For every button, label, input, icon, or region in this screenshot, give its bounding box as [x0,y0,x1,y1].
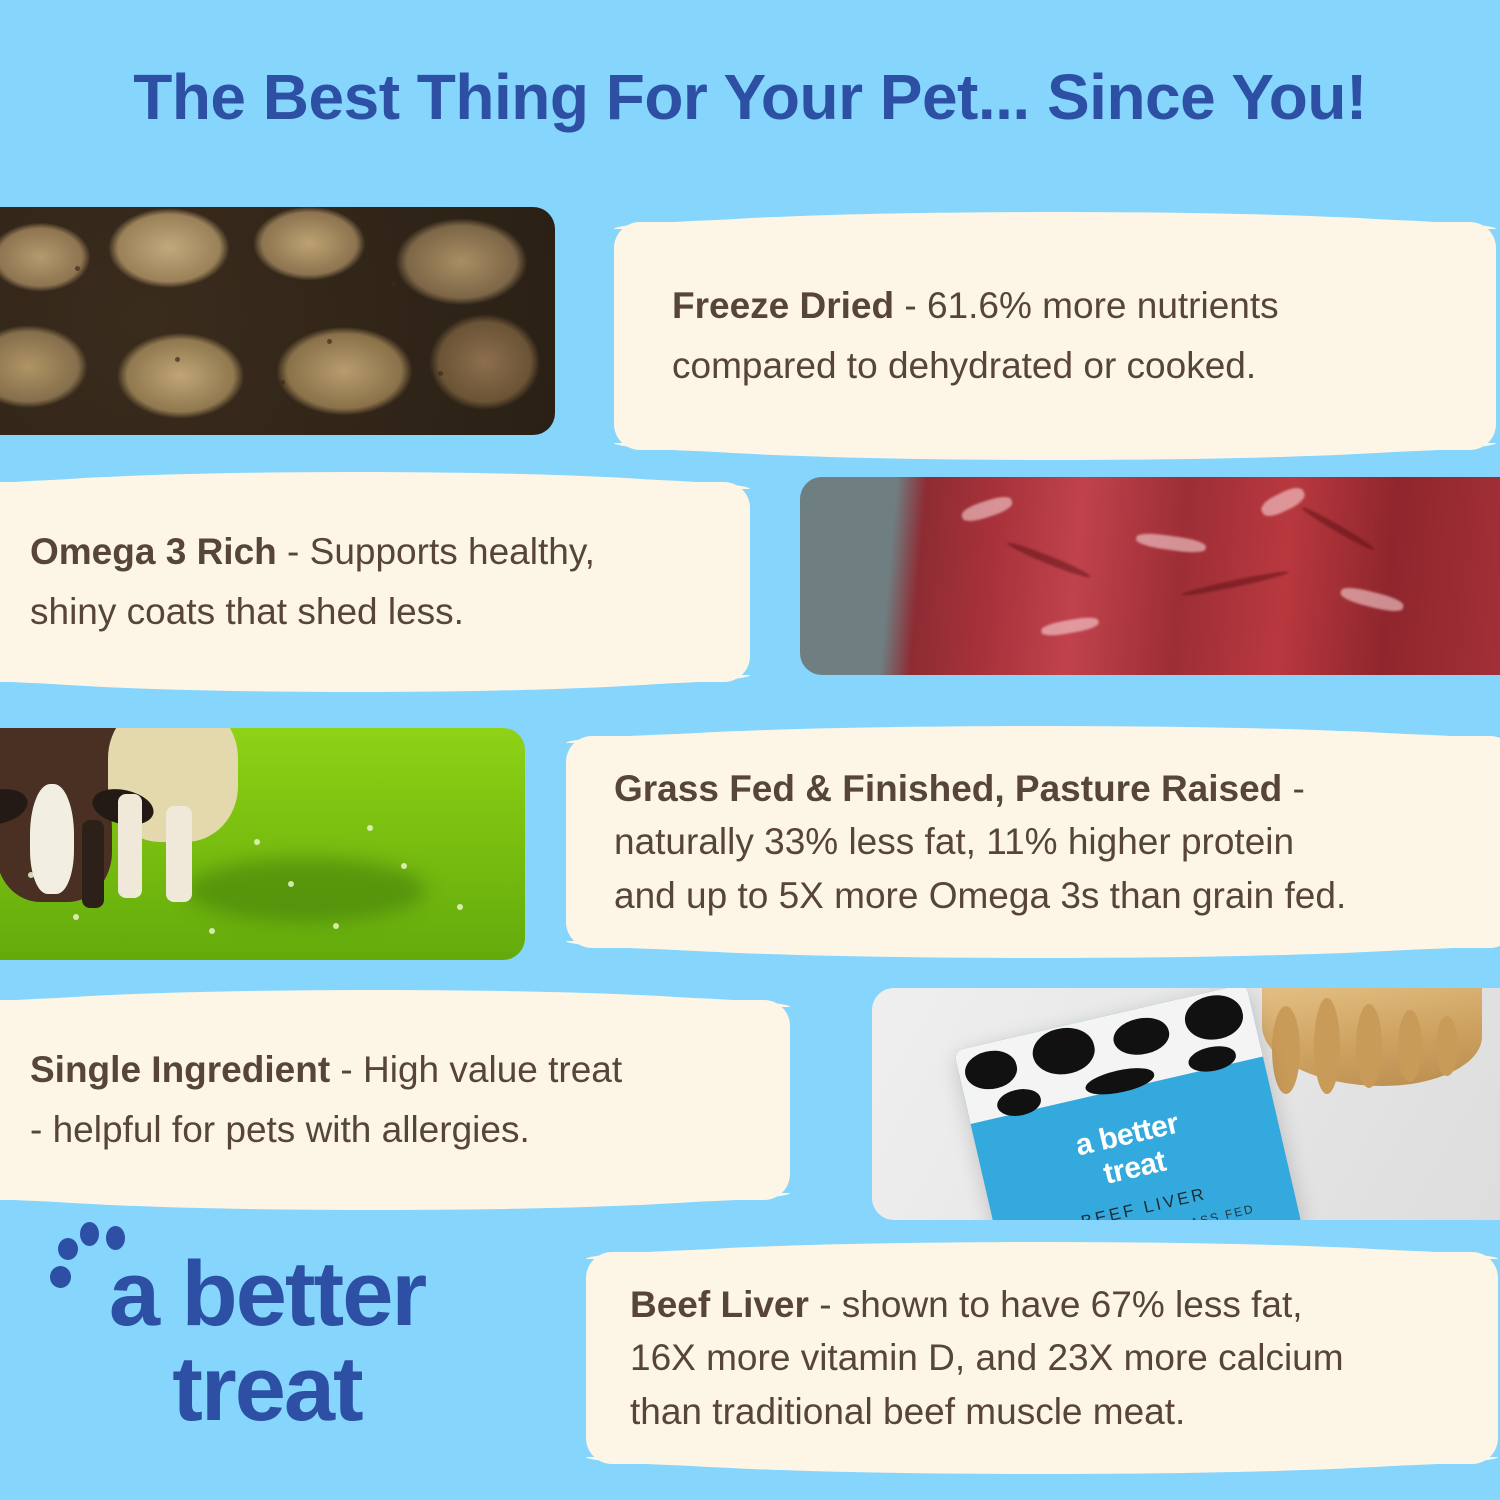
benefit-text: and up to 5X more Omega 3s than grain fe… [614,875,1346,916]
infographic-canvas: The Best Thing For Your Pet... Since You… [0,0,1500,1500]
benefit-text: compared to dehydrated or cooked. [672,345,1256,386]
product-package-image: a better treat BEEF LIVER FREEZE DRIED |… [872,988,1500,1220]
card-edge-bottom [649,442,1460,460]
benefit-line: than traditional beef muscle meat. [630,1385,1454,1439]
benefit-line: naturally 33% less fat, 11% higher prote… [614,815,1468,869]
benefit-line: 16X more vitamin D, and 23X more calcium [630,1331,1454,1385]
benefit-text: 16X more vitamin D, and 23X more calcium [630,1337,1344,1378]
benefit-line: Freeze Dried - 61.6% more nutrients [672,276,1438,336]
benefit-title: Omega 3 Rich [30,531,277,572]
benefit-line: Single Ingredient - High value treat [30,1040,720,1100]
benefit-line: Beef Liver - shown to have 67% less fat, [630,1278,1454,1332]
card-edge-top [0,472,718,490]
benefit-text: - shown to have 67% less fat, [809,1284,1303,1325]
benefit-text: - [1282,768,1305,809]
freeze-dried-treats-image [0,207,555,435]
benefit-card-single-ingredient: Single Ingredient - High value treat - h… [0,1000,790,1200]
page-title: The Best Thing For Your Pet... Since You… [0,60,1500,134]
benefit-text: - helpful for pets with allergies. [30,1109,530,1150]
benefit-text: - 61.6% more nutrients [894,285,1279,326]
benefit-text: naturally 33% less fat, 11% higher prote… [614,821,1294,862]
card-edge-bottom [622,1456,1461,1474]
logo-text-line-1: a better [109,1243,425,1345]
raw-beef-image [800,477,1500,675]
benefit-card-grass-fed: Grass Fed & Finished, Pasture Raised - n… [566,736,1500,948]
logo-line-1: a better [52,1248,482,1340]
benefit-card-beef-liver: Beef Liver - shown to have 67% less fat,… [586,1252,1498,1464]
benefit-text: than traditional beef muscle meat. [630,1391,1185,1432]
card-edge-bottom [0,674,718,692]
card-edge-bottom [0,1192,757,1210]
card-edge-top [622,1242,1461,1260]
benefit-line: and up to 5X more Omega 3s than grain fe… [614,869,1468,923]
card-edge-bottom [604,940,1478,958]
card-edge-top [649,212,1460,230]
benefit-title: Grass Fed & Finished, Pasture Raised [614,768,1282,809]
benefit-line: compared to dehydrated or cooked. [672,336,1438,396]
grazing-cow-image [0,728,525,960]
benefit-line: - helpful for pets with allergies. [30,1100,720,1160]
benefit-text: shiny coats that shed less. [30,591,464,632]
benefit-line: Grass Fed & Finished, Pasture Raised - [614,762,1468,816]
brand-logo: a better treat [52,1248,482,1439]
logo-text-line-2: treat [52,1340,482,1439]
benefit-text: - Supports healthy, [277,531,595,572]
card-edge-top [604,726,1478,744]
card-edge-top [0,990,757,1008]
benefit-card-freeze-dried: Freeze Dried - 61.6% more nutrients comp… [614,222,1496,450]
benefit-title: Single Ingredient [30,1049,330,1090]
benefit-card-omega-3-rich: Omega 3 Rich - Supports healthy, shiny c… [0,482,750,682]
dog-fur [1262,988,1482,1086]
benefit-text: - High value treat [330,1049,622,1090]
paw-print-icon [50,1222,124,1296]
benefit-title: Beef Liver [630,1284,809,1325]
benefit-line: shiny coats that shed less. [30,582,680,642]
benefit-line: Omega 3 Rich - Supports healthy, [30,522,680,582]
benefit-title: Freeze Dried [672,285,894,326]
beef-liver-package: a better treat BEEF LIVER FREEZE DRIED |… [954,988,1303,1220]
